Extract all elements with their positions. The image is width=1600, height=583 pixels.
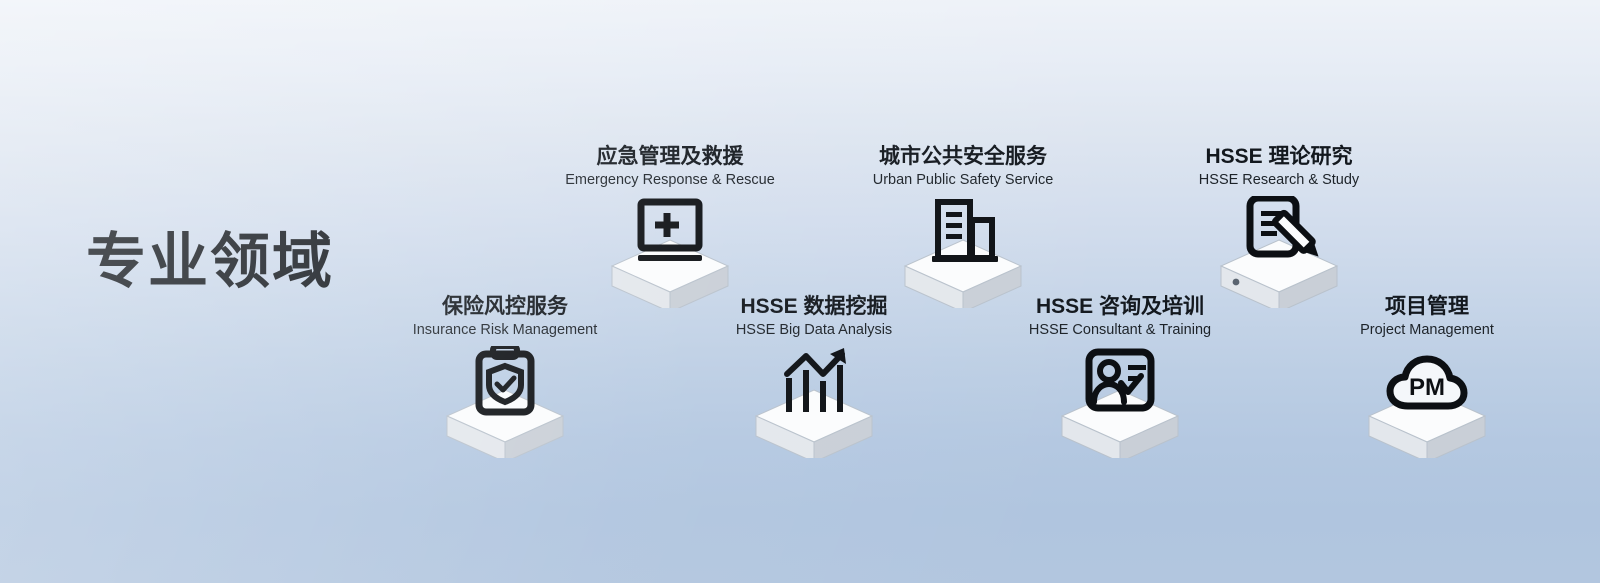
cloud-pm-icon: PM <box>1342 346 1512 458</box>
domain-artwork <box>813 196 1113 308</box>
domain-artwork <box>970 346 1270 458</box>
domain-card-urban-public-safety-service[interactable]: 城市公共安全服务 Urban Public Safety Service <box>813 144 1113 308</box>
professional-domains-banner: 专业领域 应急管理及救援 Emergency Response & Rescue <box>0 0 1600 583</box>
pedestal-shape <box>756 390 872 458</box>
bar-chart-trend-icon <box>729 346 899 458</box>
monitor-plus-icon <box>585 196 755 308</box>
domain-label-cn: 保险风控服务 <box>355 294 655 320</box>
domain-artwork <box>1129 196 1429 308</box>
domain-label-cn: HSSE 咨询及培训 <box>970 294 1270 320</box>
domain-label-en: Insurance Risk Management <box>355 321 655 340</box>
domain-label-en: HSSE Big Data Analysis <box>664 321 964 340</box>
domain-card-hsse-research-study[interactable]: HSSE 理论研究 HSSE Research & Study <box>1129 144 1429 308</box>
document-pencil-icon <box>1194 196 1364 308</box>
buildings-icon <box>878 196 1048 308</box>
domain-label-en: Emergency Response & Rescue <box>520 171 820 190</box>
domain-card-hsse-consultant-training[interactable]: HSSE 咨询及培训 HSSE Consultant & Training <box>970 294 1270 458</box>
domain-label-en: Project Management <box>1277 321 1577 340</box>
domain-label-en: Urban Public Safety Service <box>813 171 1113 190</box>
domain-artwork <box>520 196 820 308</box>
pedestal-shape <box>1062 390 1178 458</box>
domain-artwork: PM <box>1277 346 1577 458</box>
page-title: 专业领域 <box>86 228 334 296</box>
pedestal-dot <box>1233 279 1240 286</box>
domain-label-cn: 项目管理 <box>1277 294 1577 320</box>
domain-label-cn: 应急管理及救援 <box>520 144 820 170</box>
domain-card-insurance-risk-management[interactable]: 保险风控服务 Insurance Risk Management <box>355 294 655 458</box>
domain-artwork <box>664 346 964 458</box>
domain-card-hsse-big-data-analysis[interactable]: HSSE 数据挖掘 HSSE Big Data Analysis <box>664 294 964 458</box>
cloud-pm-label: PM <box>1409 374 1445 401</box>
domain-label-en: HSSE Consultant & Training <box>970 321 1270 340</box>
domain-card-project-management[interactable]: 项目管理 Project Management PM <box>1277 294 1577 458</box>
domain-label-cn: 城市公共安全服务 <box>813 144 1113 170</box>
document-pencil-glyph <box>1250 198 1323 262</box>
domain-artwork <box>355 346 655 458</box>
domain-label-cn: HSSE 数据挖掘 <box>664 294 964 320</box>
domain-label-cn: HSSE 理论研究 <box>1129 144 1429 170</box>
cloud-glyph: PM <box>1390 359 1464 406</box>
id-card-person-check-icon <box>1035 346 1205 458</box>
clipboard-shield-check-icon <box>420 346 590 458</box>
domain-card-emergency-response-rescue[interactable]: 应急管理及救援 Emergency Response & Rescue <box>520 144 820 308</box>
domain-label-en: HSSE Research & Study <box>1129 171 1429 190</box>
